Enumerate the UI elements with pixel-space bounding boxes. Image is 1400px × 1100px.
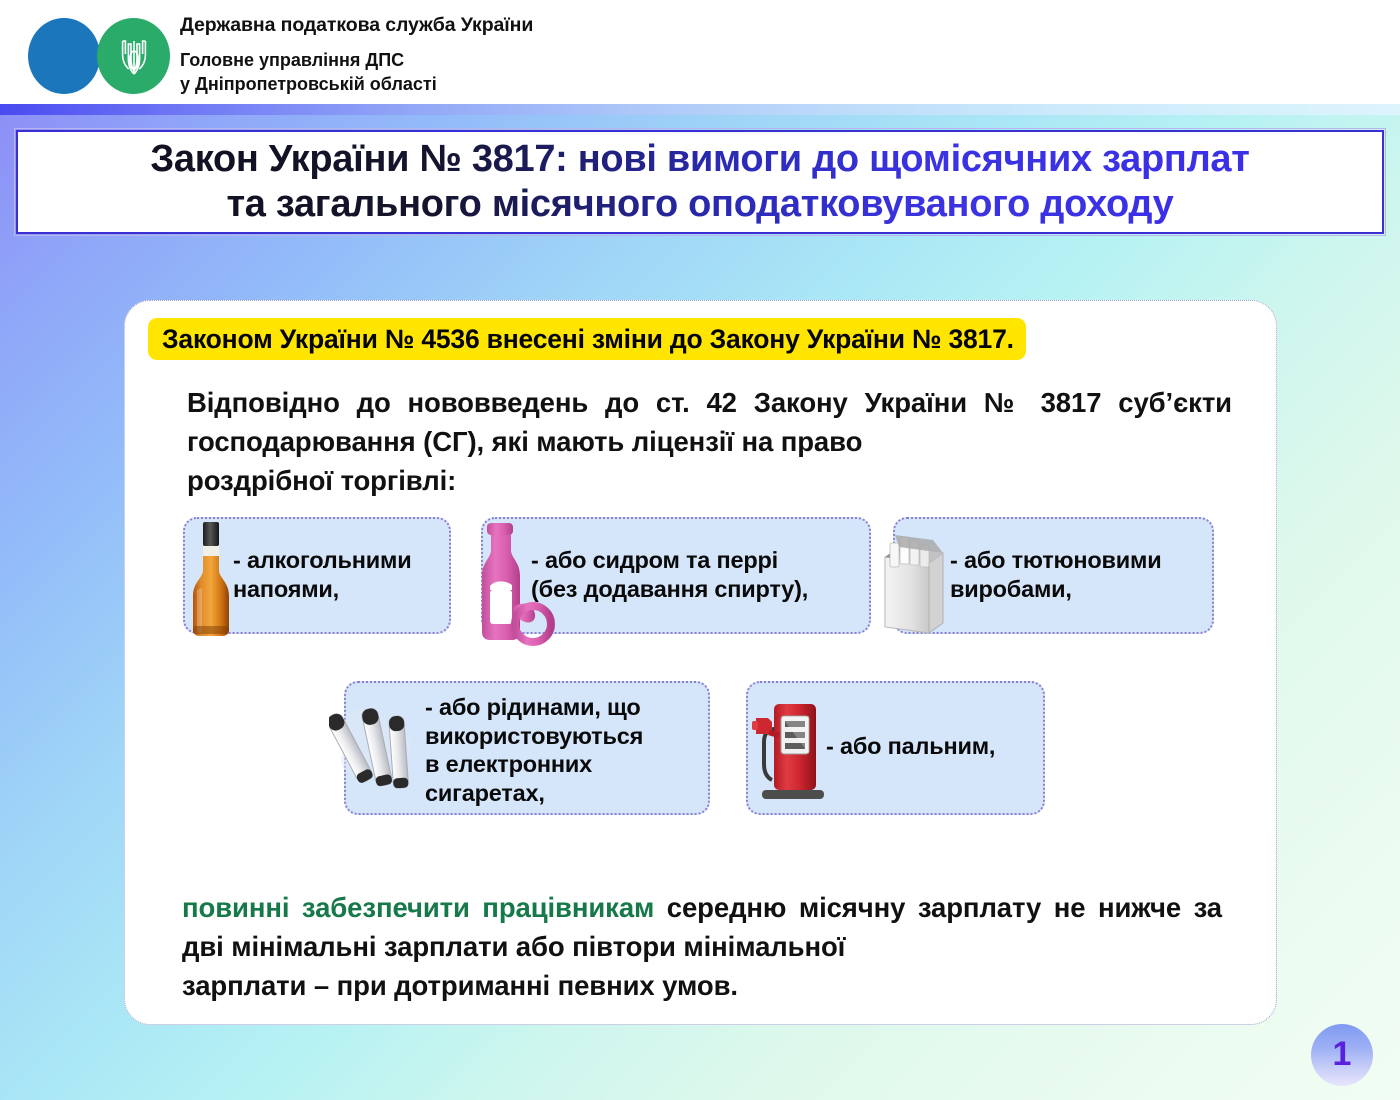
tobacco-line2: виробами, [950,576,1072,602]
liquids-line2: використовуються [425,723,643,749]
tobacco-line1: - або тютюновими [950,547,1161,573]
alcohol-line2: напоями, [233,576,339,602]
organization-logo [14,12,170,92]
org-name: Державна податкова служба України [180,14,880,37]
intro-line1: Відповідно до нововведень до ст. 42 Зако… [187,387,1101,418]
page-header: Державна податкова служба України Головн… [0,0,1400,104]
highlight-banner: Законом України № 4536 внесені зміни до … [148,318,1026,360]
page-title-line2: та загального місячного оподатковуваного… [226,183,1173,225]
intro-line3: роздрібної торгівлі: [187,461,1232,500]
liquids-line4: сигаретах, [425,780,545,806]
bottle-icon [188,520,234,638]
item-chip-liquids-text: - або рідинами, що використовуються в ел… [425,693,715,808]
alcohol-line1: - алкогольними [233,547,411,573]
item-chip-fuel-text: - або пальним, [826,732,1041,761]
fuel-pump-icon [748,694,828,804]
highlight-banner-text: Законом України № 4536 внесені зміни до … [162,324,1014,355]
slide: Державна податкова служба України Головн… [0,0,1400,1100]
cider-line1: - або сидром та перрі [531,547,778,573]
intro-paragraph: Відповідно до нововведень до ст. 42 Зако… [187,383,1232,500]
trident-icon [119,34,149,78]
logo-blue-circle-icon [28,18,100,94]
org-department: Головне управління ДПС у Дніпропетровськ… [180,49,880,97]
liquids-line3: в електронних [425,751,592,777]
item-chip-tobacco-text: - або тютюновими виробами, [950,546,1218,603]
cigarette-pack-icon [873,523,955,635]
header-divider [0,104,1400,115]
liquids-line1: - або рідинами, що [425,694,641,720]
header-text-block: Державна податкова служба України Головн… [180,14,880,97]
org-department-line1: Головне управління ДПС [180,50,404,70]
page-number: 1 [1333,1037,1352,1071]
closing-line3: зарплати – при дотриманні певних умов. [182,966,1222,1005]
page-title: Закон України № 3817: нові вимоги до щом… [138,137,1261,227]
page-number-badge: 1 [1311,1024,1373,1086]
cider-bottle-apple-icon [467,520,563,650]
vape-device-icon [329,694,429,802]
fuel-line1: - або пальним, [826,733,995,759]
org-department-line2: у Дніпропетровській області [180,74,437,94]
slide-title-box: Закон України № 3817: нові вимоги до щом… [16,130,1384,234]
item-chip-alcohol-text: - алкогольними напоями, [233,546,458,603]
cider-line2: (без додавання спирту), [531,576,808,602]
closing-green-text: повинні забезпечити працівникам [182,892,654,923]
closing-line1-rest: середню місячну зарплату [654,892,1041,923]
item-chip-cider-text: - або сидром та перрі (без додавання спи… [531,546,876,603]
page-title-line1: Закон України № 3817: нові вимоги до щом… [150,138,1249,180]
closing-paragraph: повинні забезпечити працівникам середню … [182,888,1222,1005]
